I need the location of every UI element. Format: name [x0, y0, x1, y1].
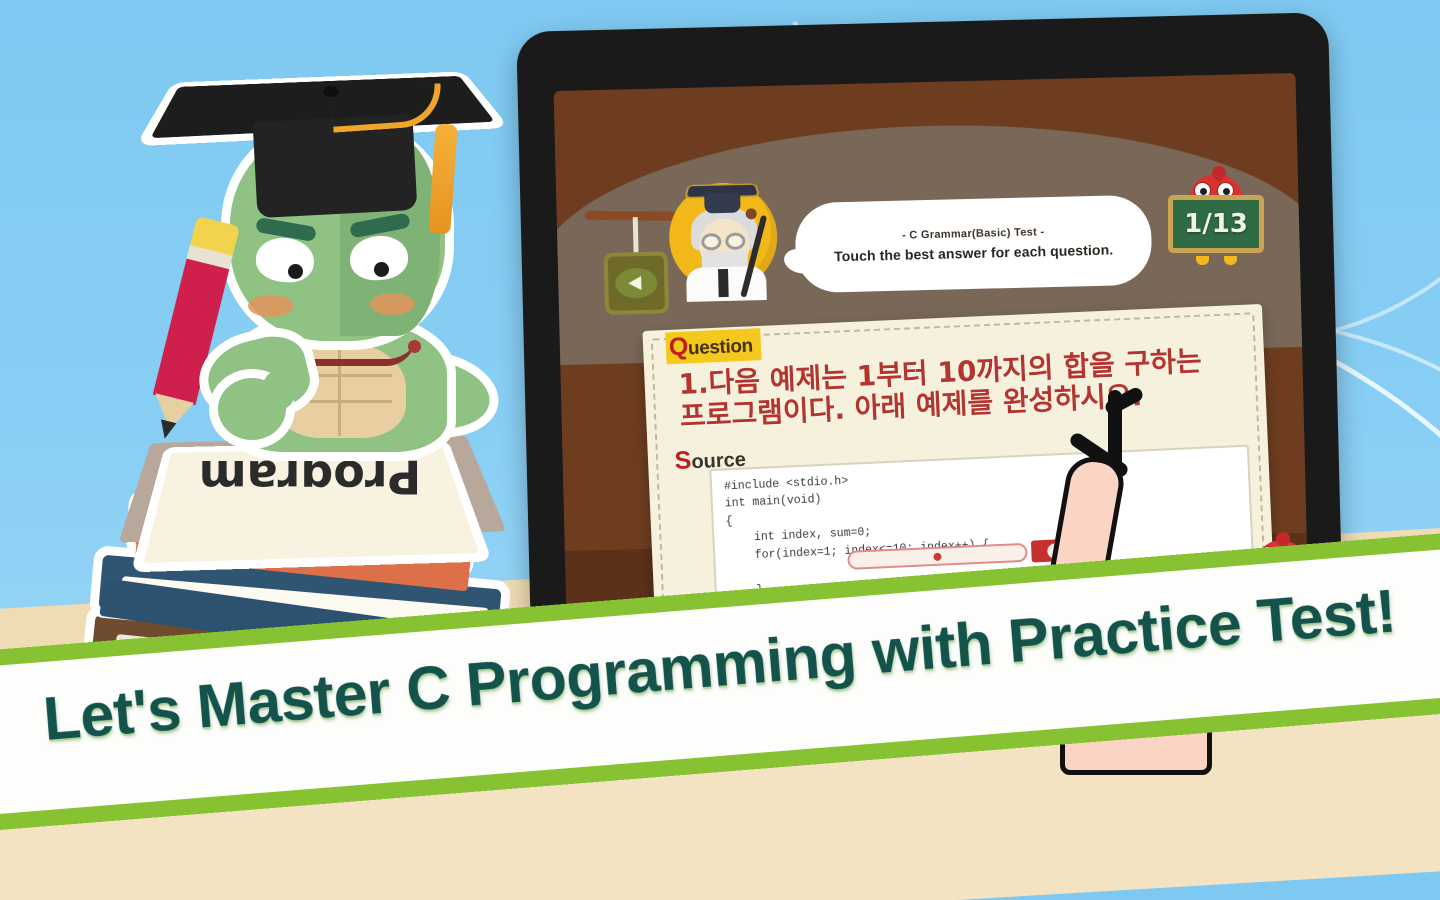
- pencil-tip: [157, 419, 177, 440]
- turtle-blush-left: [248, 295, 293, 317]
- question-label-rest: uestion: [688, 336, 754, 360]
- test-title: - C Grammar(Basic) Test -: [902, 226, 1045, 241]
- test-instruction: Touch the best answer for each question.: [834, 241, 1113, 264]
- professor-tie: [718, 269, 729, 297]
- turtle-thumb: [262, 370, 296, 410]
- back-button[interactable]: [604, 251, 669, 315]
- turtle-mascot: Program: [40, 40, 520, 700]
- promo-artwork: Program: [0, 0, 1440, 900]
- bird-pupil-right: [1223, 188, 1230, 195]
- necklace-bead: [408, 340, 421, 353]
- tassel: [428, 123, 458, 234]
- paper-word: Program: [190, 450, 430, 504]
- source-label-cap: S: [674, 446, 692, 475]
- turtle-blush-right: [370, 293, 415, 315]
- tap-motion-stroke: [1103, 385, 1145, 416]
- hanger-bar: [585, 211, 677, 221]
- question-label-cap: Q: [668, 332, 688, 361]
- back-arrow-icon: [615, 268, 658, 299]
- arrow-left-icon: [628, 276, 641, 290]
- belly-line: [292, 400, 392, 403]
- graduation-cap-base: [704, 193, 740, 214]
- turtle-pupil-left: [288, 264, 303, 279]
- question-label: Question: [665, 328, 761, 364]
- turtle-pupil-right: [374, 262, 389, 277]
- progress-chalkboard: 1/13: [1168, 195, 1264, 253]
- bird-pupil-left: [1200, 188, 1207, 195]
- tassel-cord: [331, 83, 444, 133]
- instruction-speech-bubble: - C Grammar(Basic) Test - Touch the best…: [794, 195, 1152, 294]
